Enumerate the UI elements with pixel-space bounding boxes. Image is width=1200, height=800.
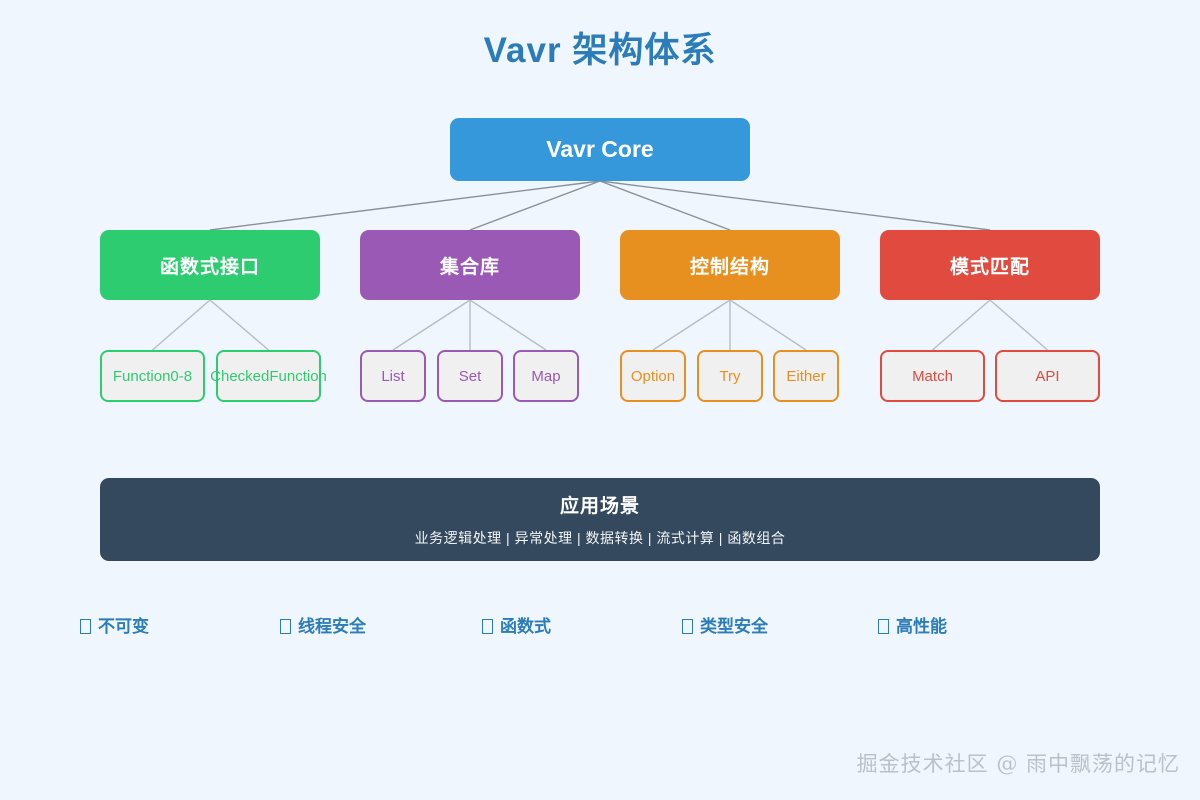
- connector-category-1-to-leaf-2: [470, 300, 546, 350]
- connector-category-0-to-leaf-0: [153, 300, 211, 350]
- node-leaf-3-1-label: API: [1035, 368, 1059, 385]
- node-category-1[interactable]: 集合库: [360, 230, 580, 300]
- connector-category-2-to-leaf-2: [730, 300, 806, 350]
- feature-tag-1: 线程安全: [280, 612, 366, 637]
- node-vavr-core-label: Vavr Core: [546, 136, 653, 163]
- node-category-0[interactable]: 函数式接口: [100, 230, 320, 300]
- connector-root-to-category-1: [470, 181, 600, 230]
- node-leaf-2-0-label: Option: [631, 368, 675, 385]
- feature-tag-2-label: 函数式: [500, 612, 551, 637]
- node-vavr-core[interactable]: Vavr Core: [450, 118, 750, 181]
- node-leaf-1-0[interactable]: List: [360, 350, 426, 402]
- node-leaf-0-1[interactable]: CheckedFunction: [216, 350, 321, 402]
- node-leaf-3-0[interactable]: Match: [880, 350, 985, 402]
- feature-tag-0-label: 不可变: [98, 612, 149, 637]
- node-leaf-2-0[interactable]: Option: [620, 350, 686, 402]
- scenario-panel: 应用场景 业务逻辑处理 | 异常处理 | 数据转换 | 流式计算 | 函数组合: [100, 478, 1100, 561]
- missing-glyph-box-icon: [280, 619, 291, 634]
- feature-tag-3-label: 类型安全: [700, 612, 768, 637]
- feature-tag-2: 函数式: [482, 612, 551, 637]
- node-leaf-1-2[interactable]: Map: [513, 350, 579, 402]
- node-leaf-0-1-label: CheckedFunction: [210, 368, 327, 385]
- feature-tag-0: 不可变: [80, 612, 149, 637]
- node-leaf-2-2-label: Either: [786, 368, 825, 385]
- missing-glyph-box-icon: [682, 619, 693, 634]
- node-category-0-label: 函数式接口: [160, 252, 260, 279]
- node-category-2[interactable]: 控制结构: [620, 230, 840, 300]
- connector-category-1-to-leaf-0: [393, 300, 470, 350]
- node-leaf-1-1-label: Set: [459, 368, 482, 385]
- watermark: 掘金技术社区 @ 雨中飘荡的记忆: [0, 748, 1180, 778]
- missing-glyph-box-icon: [878, 619, 889, 634]
- connector-category-3-to-leaf-0: [933, 300, 991, 350]
- node-leaf-1-0-label: List: [381, 368, 404, 385]
- missing-glyph-box-icon: [80, 619, 91, 634]
- node-leaf-2-2[interactable]: Either: [773, 350, 839, 402]
- feature-tag-1-label: 线程安全: [298, 612, 366, 637]
- node-category-1-label: 集合库: [440, 252, 500, 279]
- node-category-3[interactable]: 模式匹配: [880, 230, 1100, 300]
- node-leaf-0-0[interactable]: Function0-8: [100, 350, 205, 402]
- node-leaf-3-1[interactable]: API: [995, 350, 1100, 402]
- missing-glyph-box-icon: [482, 619, 493, 634]
- feature-tag-4-label: 高性能: [896, 612, 947, 637]
- node-leaf-1-1[interactable]: Set: [437, 350, 503, 402]
- scenario-items: 业务逻辑处理 | 异常处理 | 数据转换 | 流式计算 | 函数组合: [415, 528, 786, 548]
- scenario-title: 应用场景: [560, 491, 640, 518]
- connector-root-to-category-2: [600, 181, 730, 230]
- node-category-3-label: 模式匹配: [950, 252, 1030, 279]
- node-category-2-label: 控制结构: [690, 252, 770, 279]
- connector-category-3-to-leaf-1: [990, 300, 1048, 350]
- feature-tag-4: 高性能: [878, 612, 947, 637]
- node-leaf-1-2-label: Map: [531, 368, 560, 385]
- connector-root-to-category-3: [600, 181, 990, 230]
- connector-root-to-category-0: [210, 181, 600, 230]
- node-leaf-2-1[interactable]: Try: [697, 350, 763, 402]
- node-leaf-0-0-label: Function0-8: [113, 368, 192, 385]
- connector-category-2-to-leaf-0: [653, 300, 730, 350]
- node-leaf-2-1-label: Try: [719, 368, 740, 385]
- diagram-canvas: Vavr 架构体系 Vavr Core 函数式接口 集合库 控制结构 模式匹配 …: [0, 0, 1200, 800]
- connector-category-0-to-leaf-1: [210, 300, 269, 350]
- node-leaf-3-0-label: Match: [912, 368, 953, 385]
- page-title: Vavr 架构体系: [0, 22, 1200, 73]
- feature-tag-3: 类型安全: [682, 612, 768, 637]
